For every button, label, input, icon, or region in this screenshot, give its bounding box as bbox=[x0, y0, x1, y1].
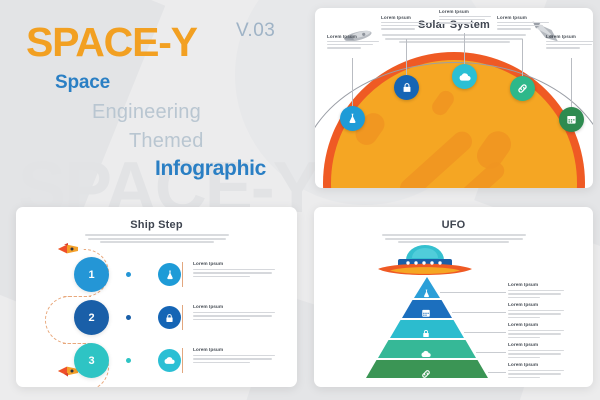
lock-icon bbox=[394, 75, 419, 100]
ufo-label-block-5: Lorem Ipsum bbox=[508, 363, 564, 378]
step-dot-2 bbox=[126, 315, 131, 320]
ufo-leader-1 bbox=[440, 292, 506, 293]
calendar-icon bbox=[559, 107, 584, 132]
cloud-icon bbox=[420, 348, 432, 360]
flask-icon bbox=[340, 106, 365, 131]
step-divider-2 bbox=[182, 305, 183, 330]
step-planet-2[interactable]: 2 bbox=[74, 300, 109, 335]
ufo-label: Lorem Ipsum bbox=[508, 343, 564, 348]
ufo-label-block-4: Lorem Ipsum bbox=[508, 343, 564, 358]
panel-ufo[interactable]: UFO bbox=[314, 207, 593, 387]
ufo-label: Lorem Ipsum bbox=[508, 303, 564, 308]
step-divider-3 bbox=[182, 348, 183, 373]
ufo-leader-4 bbox=[476, 352, 506, 353]
link-icon bbox=[510, 76, 535, 101]
version-label: V.03 bbox=[236, 20, 275, 42]
solar-node-2[interactable]: Lorem Ipsum bbox=[394, 75, 419, 100]
ship-description bbox=[82, 234, 232, 243]
step-number: 3 bbox=[88, 355, 94, 367]
tagline-themed: Themed bbox=[129, 130, 204, 153]
step-label: Lorem Ipsum bbox=[193, 348, 275, 353]
ufo-craft-icon bbox=[376, 244, 474, 280]
solar-node-label: Lorem Ipsum bbox=[497, 15, 549, 20]
step-divider-1 bbox=[182, 262, 183, 287]
ufo-label-block-3: Lorem Ipsum bbox=[508, 323, 564, 338]
solar-node-4[interactable]: Lorem Ipsum bbox=[510, 76, 535, 101]
ship-title: Ship Step bbox=[16, 219, 297, 231]
step-label-block-1: Lorem Ipsum bbox=[193, 262, 275, 277]
tagline-infographic: Infographic bbox=[155, 157, 266, 181]
solar-node-label: Lorem Ipsum bbox=[327, 34, 379, 39]
tagline-space: Space bbox=[55, 72, 110, 94]
rocket-top-icon bbox=[54, 243, 84, 255]
solar-node-label: Lorem Ipsum bbox=[439, 9, 491, 14]
ufo-label-block-2: Lorem Ipsum bbox=[508, 303, 564, 318]
solar-node-label: Lorem Ipsum bbox=[381, 15, 433, 20]
panel-solar-system[interactable]: Solar System bbox=[315, 8, 593, 188]
title-block: SPACE-Y V.03 Space Engineering Themed In… bbox=[0, 0, 310, 200]
ufo-description bbox=[379, 234, 529, 243]
step-planet-1[interactable]: 1 bbox=[74, 257, 109, 292]
step-number: 2 bbox=[88, 312, 94, 324]
cloud-icon bbox=[452, 64, 477, 89]
step-label-block-3: Lorem Ipsum bbox=[193, 348, 275, 363]
ufo-leader-3 bbox=[464, 332, 506, 333]
ufo-label: Lorem Ipsum bbox=[508, 283, 564, 288]
brand-title: SPACE-Y bbox=[26, 22, 197, 63]
flask-icon bbox=[420, 287, 432, 299]
calendar-icon bbox=[420, 307, 432, 319]
ufo-label: Lorem Ipsum bbox=[508, 363, 564, 368]
step-planet-3[interactable]: 3 bbox=[74, 343, 109, 378]
link-icon bbox=[420, 368, 432, 380]
solar-description bbox=[379, 34, 529, 43]
ufo-title: UFO bbox=[314, 219, 593, 231]
ufo-leader-5 bbox=[488, 372, 506, 373]
step-label: Lorem Ipsum bbox=[193, 262, 275, 267]
ufo-leader-2 bbox=[452, 312, 506, 313]
solar-node-3[interactable]: Lorem Ipsum bbox=[452, 64, 477, 89]
tagline-engineering: Engineering bbox=[92, 101, 201, 124]
solar-node-label: Lorem Ipsum bbox=[546, 34, 593, 39]
ufo-label-block-1: Lorem Ipsum bbox=[508, 283, 564, 298]
cloud-icon bbox=[158, 349, 181, 372]
solar-node-5[interactable]: Lorem Ipsum bbox=[559, 107, 584, 132]
ufo-label: Lorem Ipsum bbox=[508, 323, 564, 328]
solar-node-1[interactable]: Lorem Ipsum bbox=[340, 106, 365, 131]
step-label: Lorem Ipsum bbox=[193, 305, 275, 310]
flask-icon bbox=[158, 263, 181, 286]
step-number: 1 bbox=[88, 269, 94, 281]
step-label-block-2: Lorem Ipsum bbox=[193, 305, 275, 320]
panel-ship-step[interactable]: Ship Step 1 Lorem Ipsu bbox=[16, 207, 297, 387]
lock-icon bbox=[158, 306, 181, 329]
step-dot-1 bbox=[126, 272, 131, 277]
lock-icon bbox=[420, 327, 432, 339]
step-dot-3 bbox=[126, 358, 131, 363]
